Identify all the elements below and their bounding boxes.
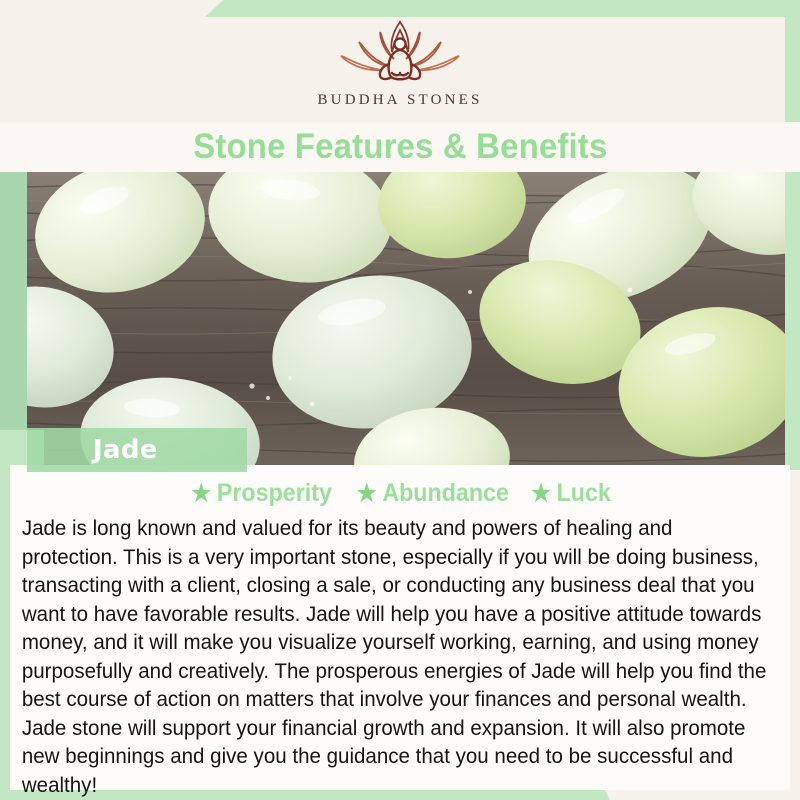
benefit-label: Luck — [557, 479, 611, 508]
decorative-left-green-strip — [0, 168, 27, 468]
stone-description: Jade is long known and valued for its be… — [18, 514, 777, 799]
page-title: Stone Features & Benefits — [193, 127, 607, 167]
lotus-meditation-icon — [325, 18, 475, 90]
benefits-list: ★ Prosperity ★ Abundance ★ Luck — [18, 479, 782, 508]
decorative-top-green-band — [205, 0, 800, 17]
stone-photo-graphic — [0, 172, 800, 465]
stone-name-banner: Jade — [27, 428, 247, 472]
poster-root: BUDDHA STONES Stone Features & Benefits — [0, 0, 800, 800]
star-icon: ★ — [191, 482, 211, 506]
title-banner: Stone Features & Benefits — [0, 122, 800, 172]
brand-logo: BUDDHA STONES — [0, 18, 800, 118]
stone-photo — [0, 172, 800, 465]
benefit-label: Abundance — [382, 479, 509, 508]
content-panel: ★ Prosperity ★ Abundance ★ Luck Jade is … — [10, 465, 790, 790]
benefit-item: ★ Abundance — [357, 479, 509, 508]
star-icon: ★ — [531, 482, 551, 506]
brand-name: BUDDHA STONES — [317, 92, 482, 109]
benefit-item: ★ Prosperity — [191, 479, 332, 508]
benefit-label: Prosperity — [217, 479, 332, 508]
star-icon: ★ — [357, 482, 377, 506]
benefit-item: ★ Luck — [531, 479, 611, 508]
stone-name: Jade — [27, 435, 158, 465]
